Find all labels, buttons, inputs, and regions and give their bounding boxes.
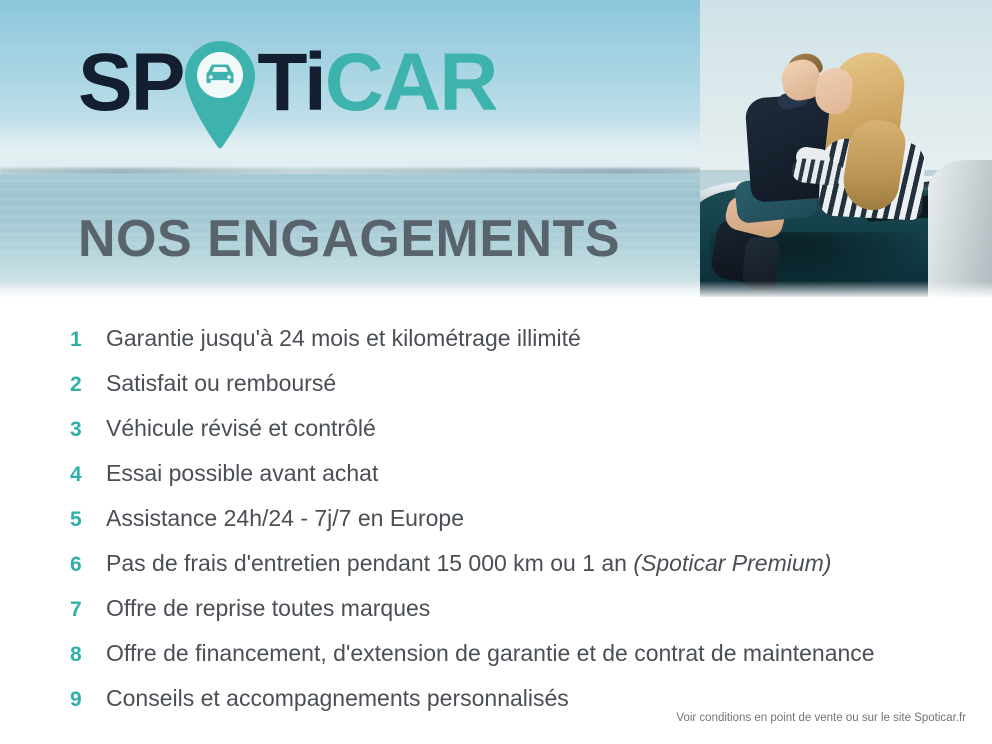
commitment-text-emphasis: (Spoticar Premium) — [633, 550, 831, 576]
commitment-number: 9 — [70, 688, 106, 712]
map-pin-icon — [183, 40, 257, 152]
commitment-item: 1Garantie jusqu'à 24 mois et kilométrage… — [70, 325, 581, 355]
family-on-car-photo — [700, 0, 992, 297]
commitment-text: Satisfait ou remboursé — [106, 370, 336, 397]
commitment-text-main: Essai possible avant achat — [106, 460, 378, 486]
commitment-text-main: Assistance 24h/24 - 7j/7 en Europe — [106, 505, 464, 531]
logo-text-car: CAR — [325, 42, 497, 124]
logo-map-pin-slot — [183, 42, 257, 124]
commitment-number: 3 — [70, 418, 106, 442]
commitment-text-main: Garantie jusqu'à 24 mois et kilométrage … — [106, 325, 581, 351]
commitment-item: 6Pas de frais d'entretien pendant 15 000… — [70, 550, 831, 580]
commitment-text: Assistance 24h/24 - 7j/7 en Europe — [106, 505, 464, 532]
commitment-text-main: Conseils et accompagnements personnalisé… — [106, 685, 569, 711]
commitment-text: Offre de financement, d'extension de gar… — [106, 640, 875, 667]
commitment-item: 5Assistance 24h/24 - 7j/7 en Europe — [70, 505, 464, 535]
commitment-item: 4Essai possible avant achat — [70, 460, 378, 490]
commitment-text: Conseils et accompagnements personnalisé… — [106, 685, 569, 712]
commitment-text: Garantie jusqu'à 24 mois et kilométrage … — [106, 325, 581, 352]
commitment-item: 8Offre de financement, d'extension de ga… — [70, 640, 875, 670]
commitment-text: Offre de reprise toutes marques — [106, 595, 430, 622]
commitment-number: 2 — [70, 373, 106, 397]
commitment-text-main: Offre de financement, d'extension de gar… — [106, 640, 875, 666]
hero-bottom-fade — [0, 281, 992, 297]
commitment-number: 1 — [70, 328, 106, 352]
commitments-list: 1Garantie jusqu'à 24 mois et kilométrage… — [0, 297, 992, 744]
commitment-text-main: Véhicule révisé et contrôlé — [106, 415, 376, 441]
logo-text-ti: Ti — [257, 42, 324, 124]
car-pillar — [928, 160, 992, 297]
commitment-item: 9Conseils et accompagnements personnalis… — [70, 685, 569, 715]
commitment-text: Pas de frais d'entretien pendant 15 000 … — [106, 550, 831, 577]
commitment-item: 7Offre de reprise toutes marques — [70, 595, 430, 625]
commitment-number: 7 — [70, 598, 106, 622]
commitment-text: Essai possible avant achat — [106, 460, 378, 487]
spoticar-logo: SP Ti CAR — [78, 42, 496, 134]
commitment-text-main: Offre de reprise toutes marques — [106, 595, 430, 621]
page-title: NOS ENGAGEMENTS — [78, 210, 620, 268]
commitment-text-main: Satisfait ou remboursé — [106, 370, 336, 396]
logo-wordmark: SP Ti CAR — [78, 42, 496, 124]
hero-banner: SP Ti CAR NOS ENGAGEMENTS — [0, 0, 992, 297]
commitment-number: 8 — [70, 643, 106, 667]
commitment-text: Véhicule révisé et contrôlé — [106, 415, 376, 442]
commitment-item: 3Véhicule révisé et contrôlé — [70, 415, 376, 445]
footer-disclaimer: Voir conditions en point de vente ou sur… — [676, 712, 966, 724]
commitment-number: 5 — [70, 508, 106, 532]
logo-text-sp: SP — [78, 42, 183, 124]
commitment-number: 4 — [70, 463, 106, 487]
commitment-number: 6 — [70, 553, 106, 577]
commitment-item: 2Satisfait ou remboursé — [70, 370, 336, 400]
commitment-text-main: Pas de frais d'entretien pendant 15 000 … — [106, 550, 633, 576]
